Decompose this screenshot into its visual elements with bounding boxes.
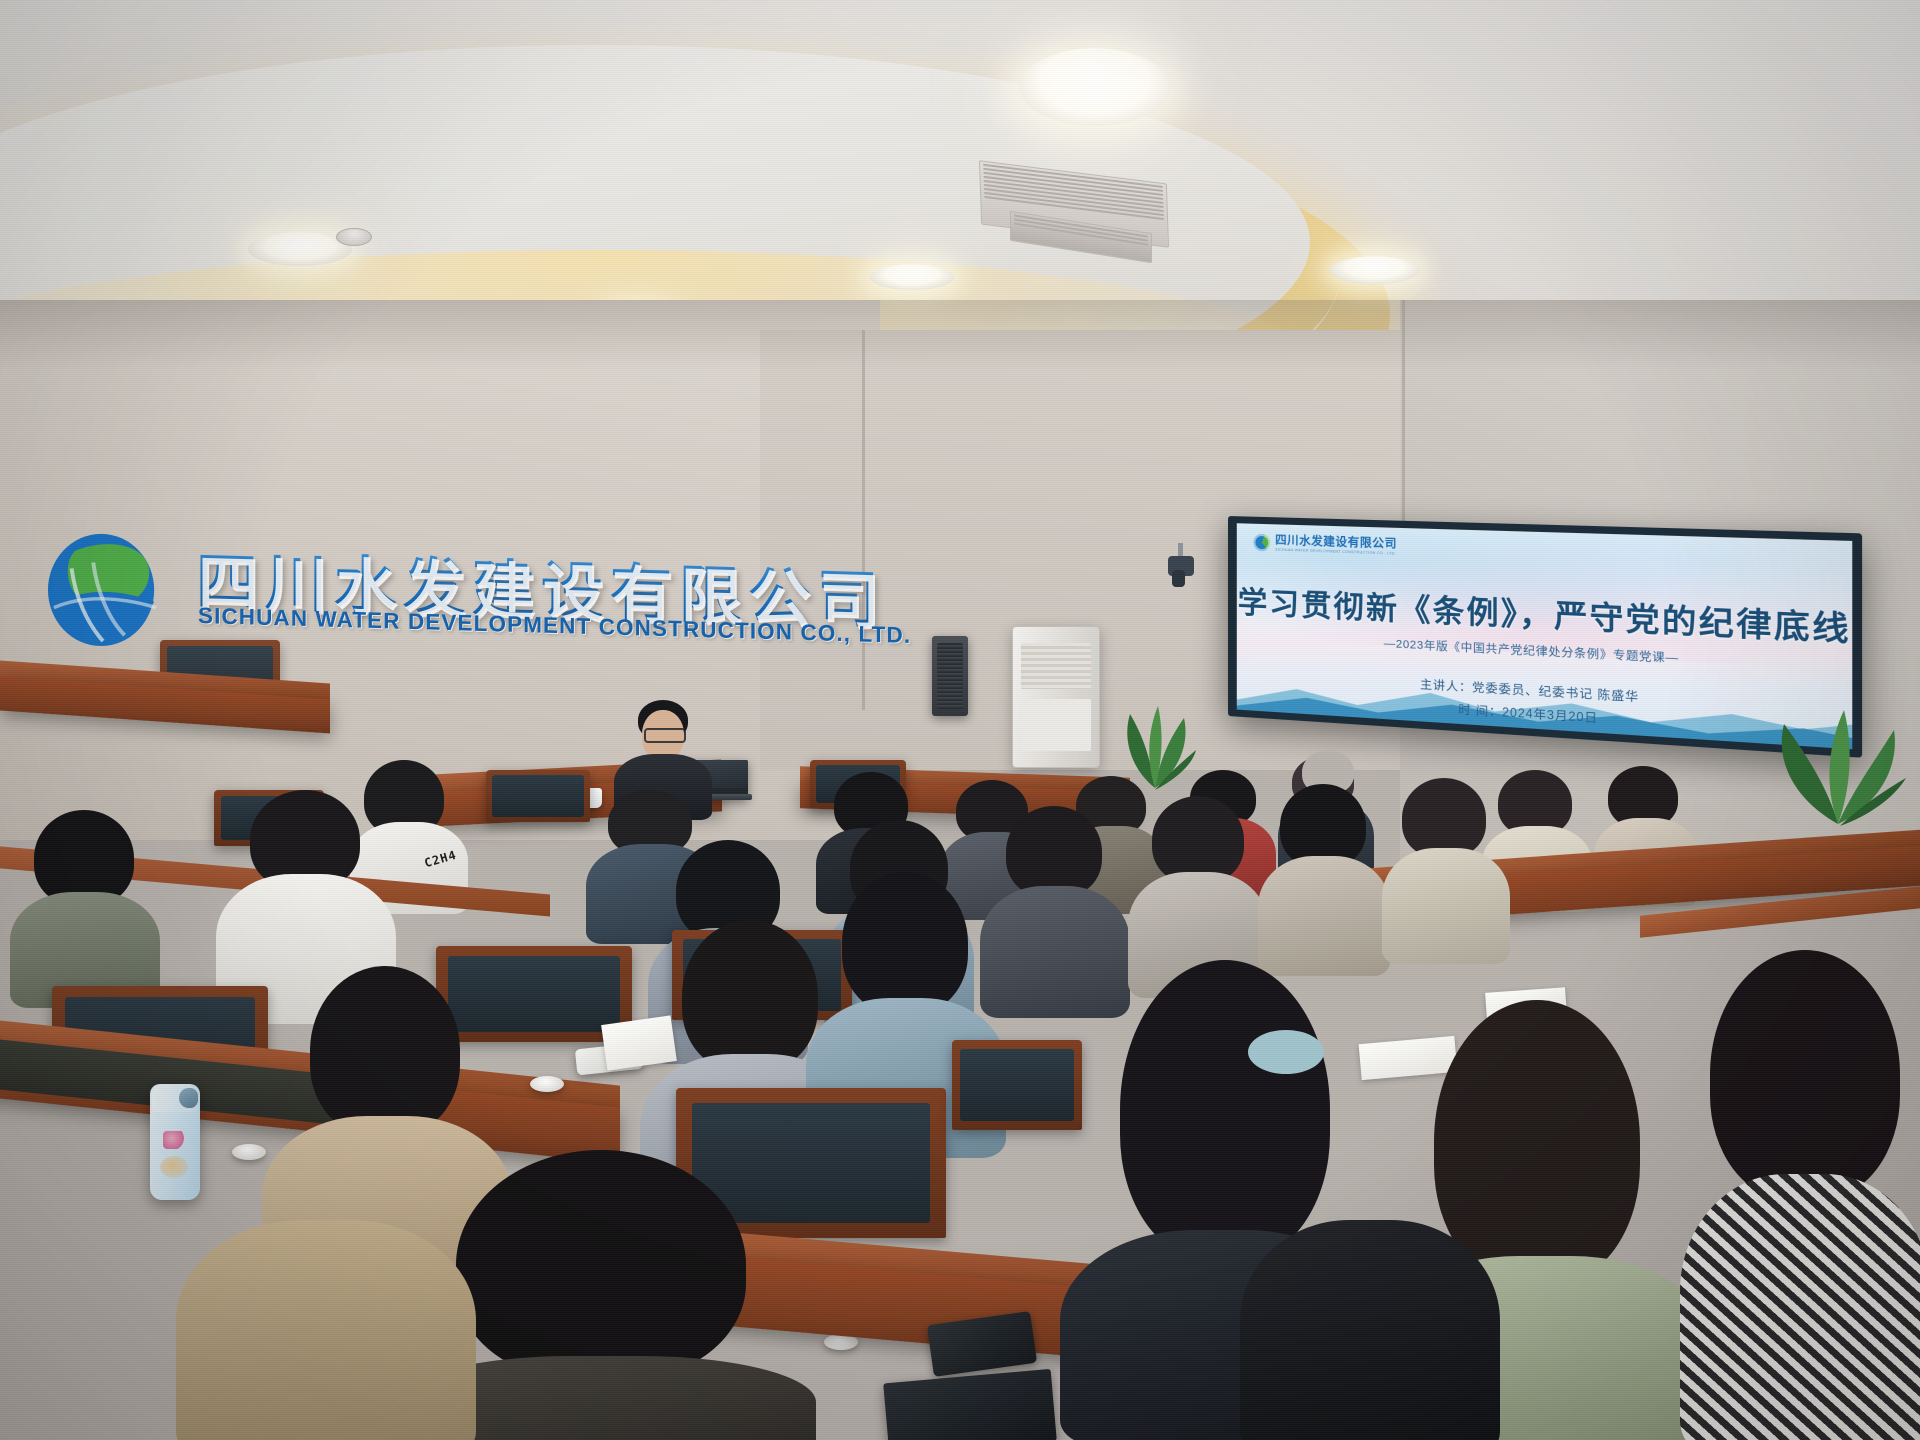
company-logo-mark-icon	[46, 529, 164, 647]
attendee-19-hair	[310, 966, 460, 1136]
table-microphone-puck-2[interactable]	[232, 1144, 266, 1160]
attendee-27	[1240, 1200, 1500, 1440]
attendee-18	[1382, 778, 1510, 962]
wall-corner-left	[862, 330, 865, 710]
chair-back-2[interactable]	[486, 770, 590, 822]
wall-speaker-icon	[932, 636, 968, 716]
attendee-24	[1680, 950, 1920, 1440]
thermos-sticker	[163, 1131, 185, 1149]
attendee-24-body	[1680, 1174, 1920, 1440]
attendee-21-hair	[842, 872, 968, 1014]
ceiling-round-light-fixture	[1020, 48, 1170, 126]
attendee-11	[10, 810, 160, 1000]
smoke-detector-icon	[336, 228, 372, 246]
downlight-4	[870, 264, 954, 290]
hair-scrunchie	[1248, 1030, 1324, 1074]
plant-right	[1758, 706, 1908, 826]
presenter-glasses-icon	[644, 728, 686, 743]
air-conditioner-cabinet	[1012, 626, 1100, 768]
attendee-15-hair	[1006, 806, 1102, 898]
ac-panel	[1021, 699, 1091, 751]
attendee-27-body	[1240, 1220, 1500, 1440]
attendee-18-hair	[1402, 778, 1486, 858]
thermos-latch[interactable]	[179, 1088, 198, 1108]
downlight-8	[1330, 256, 1420, 284]
plant-right-leaves-icon	[1758, 706, 1908, 826]
table-microphone-puck-1[interactable]	[530, 1076, 564, 1092]
wall-company-logo: 四川水发建设有限公司 SICHUAN WATER DEVELOPMENT CON…	[46, 527, 746, 657]
attendee-16-hair	[1152, 796, 1244, 884]
conference-room-photo: 四川水发建设有限公司 SICHUAN WATER DEVELOPMENT CON…	[0, 0, 1920, 1440]
ac-grille	[1021, 643, 1091, 689]
attendee-24-hair	[1710, 950, 1900, 1200]
notebook[interactable]	[883, 1369, 1057, 1440]
attendee-20-hair	[682, 920, 818, 1072]
attendee-25-hair	[456, 1150, 746, 1380]
thermos-graphic	[160, 1156, 188, 1178]
attendee-26-body	[176, 1220, 476, 1440]
attendee-18-body	[1382, 848, 1510, 964]
wall-ceiling-shadow	[0, 300, 1920, 370]
attendee-26	[176, 1180, 476, 1440]
attendee-17	[1258, 784, 1390, 974]
attendee-17-body	[1258, 856, 1390, 976]
slide-logo-mark-icon	[1253, 534, 1270, 552]
ceiling-camera-icon	[1168, 556, 1194, 576]
